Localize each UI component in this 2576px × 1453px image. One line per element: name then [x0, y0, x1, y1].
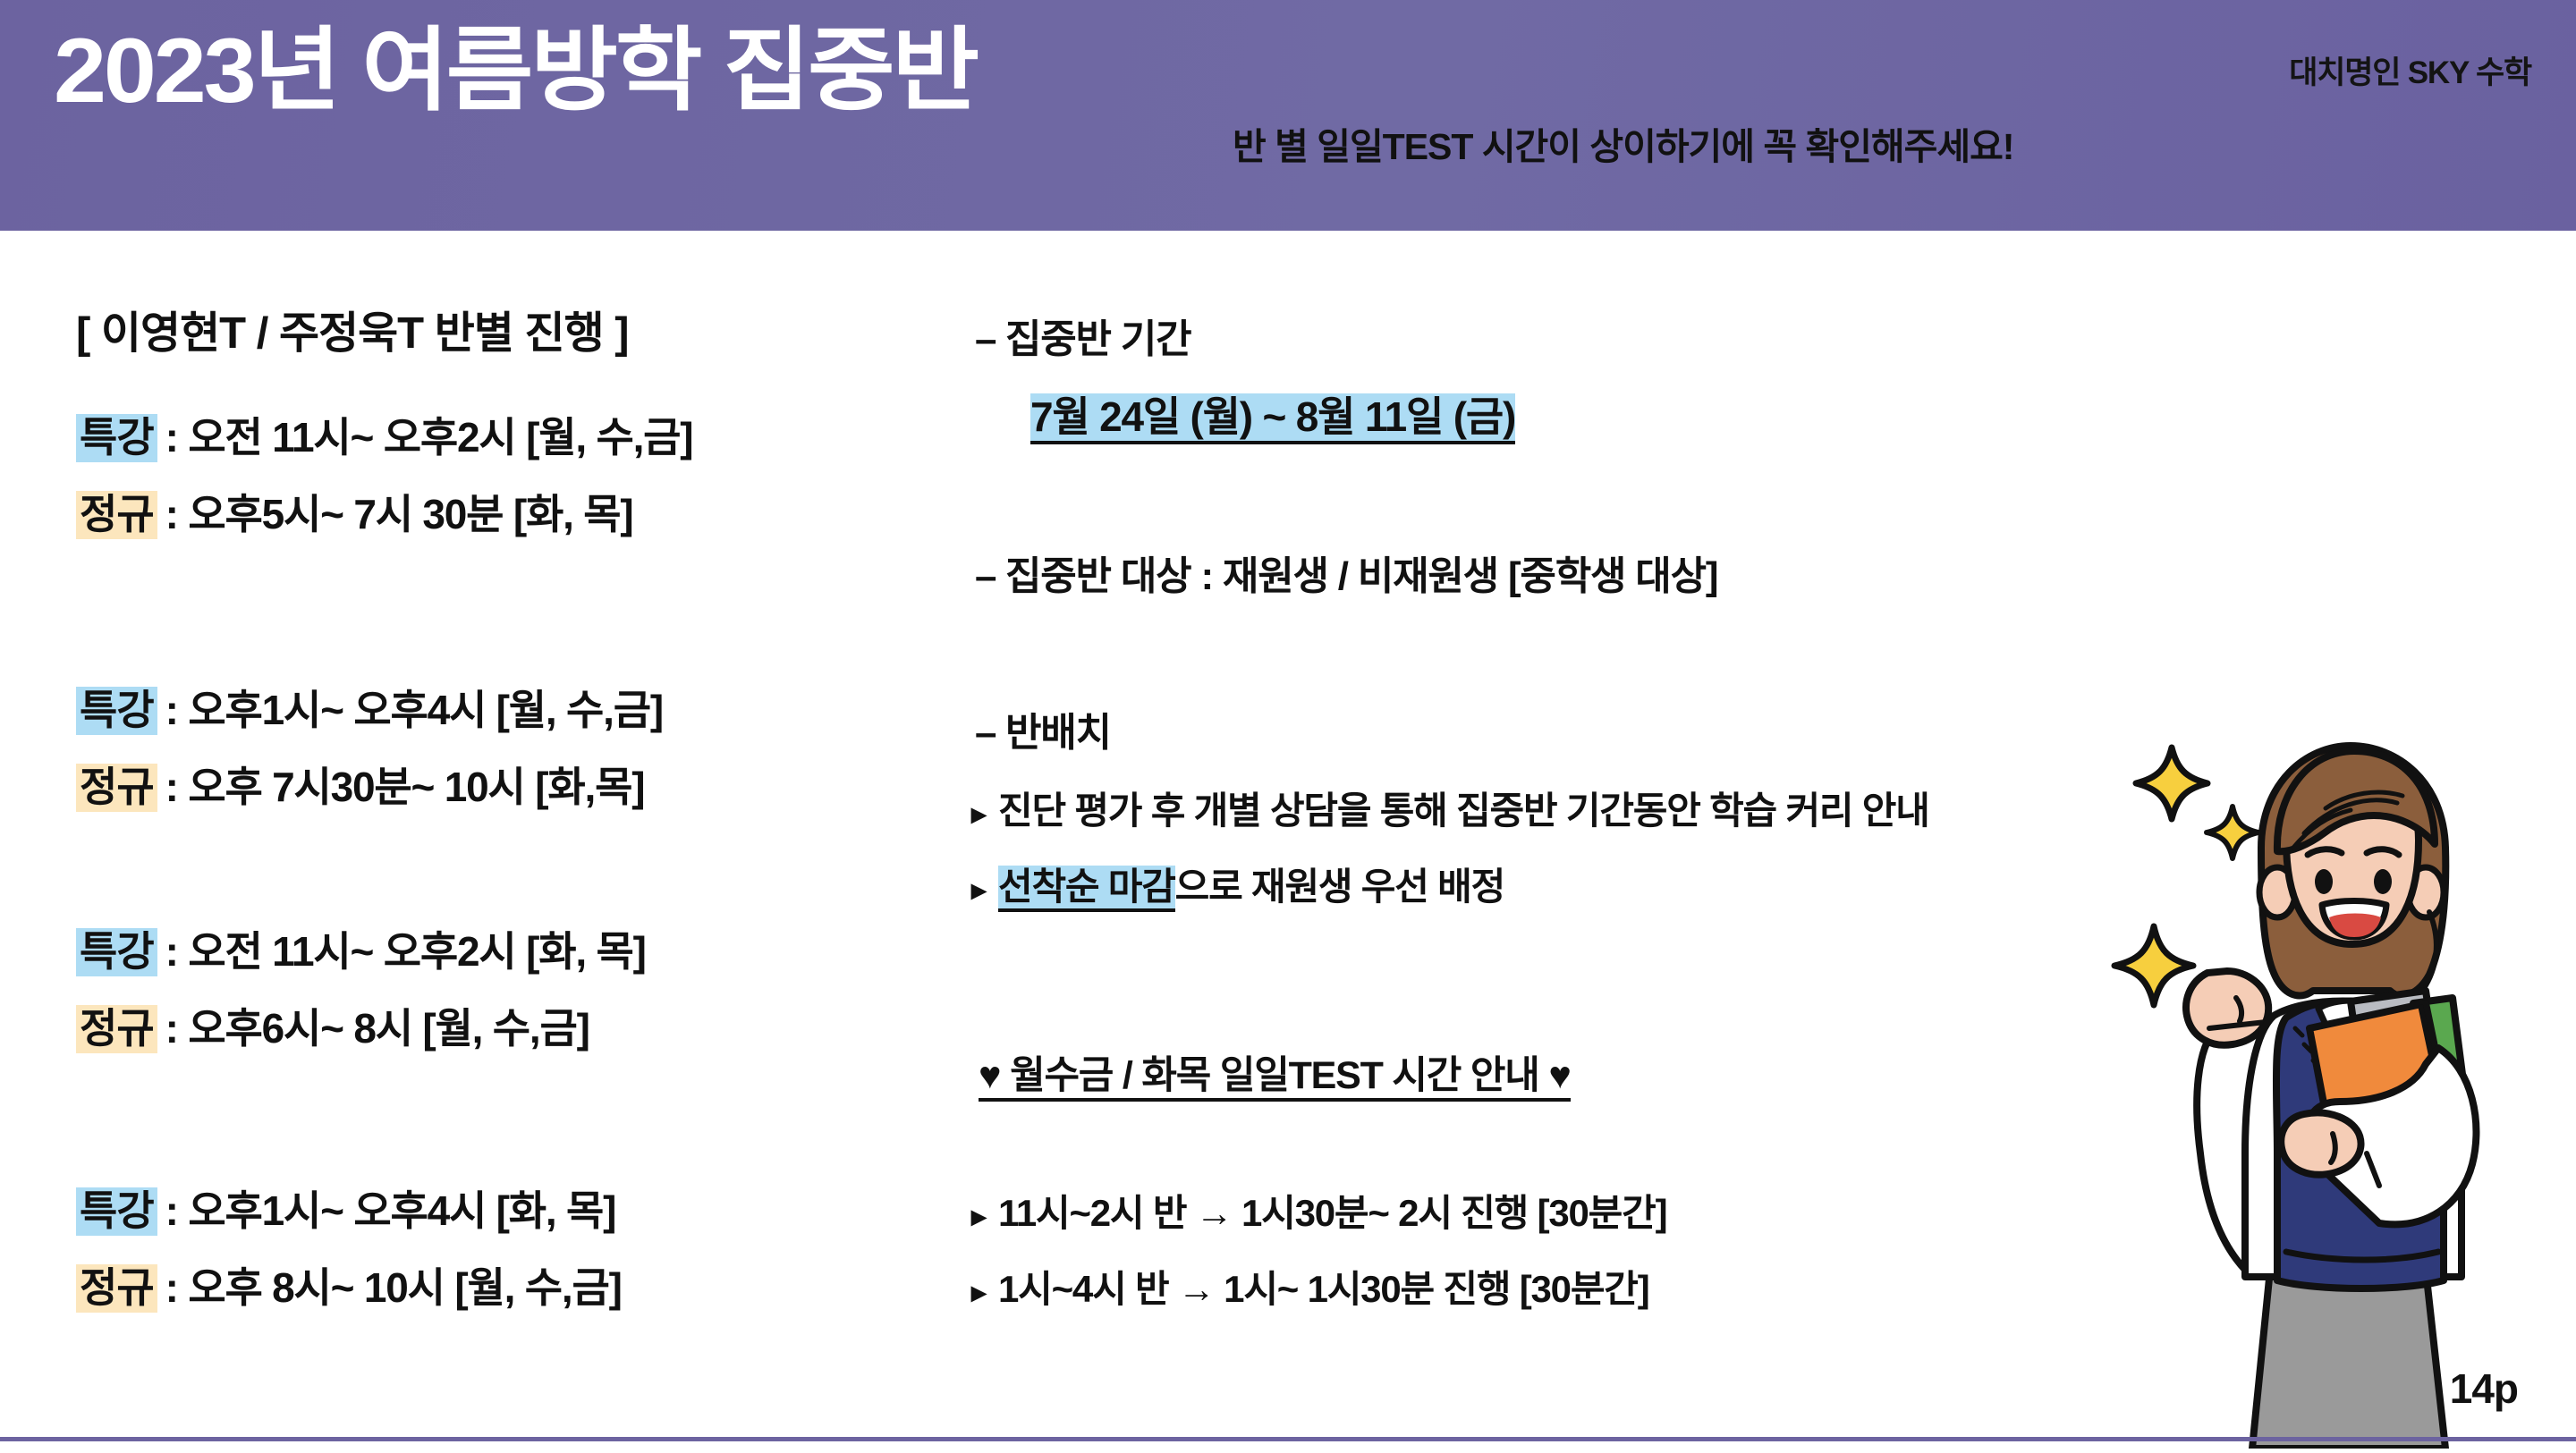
left-column: [ 이영현T / 주정욱T 반별 진행 ] 특강 : 오전 11시~ 오후2시 … [0, 231, 966, 1449]
target-row: –집중반 대상 : 재원생 / 비재원생 [중학생 대상] [975, 544, 1717, 601]
tag-teukgang: 특강 [76, 1187, 157, 1236]
class-row-teukgang: 특강 : 오전 11시~ 오후2시 [월, 수,금] [76, 405, 935, 464]
class-block-1: 특강 : 오전 11시~ 오후2시 [월, 수,금] 정규 : 오후5시~ 7시… [76, 405, 935, 559]
triangle-bullet-icon: ▸ [971, 873, 998, 907]
tag-jeonggyu: 정규 [76, 1005, 157, 1053]
class-row-jeonggyu: 정규 : 오후 7시30분~ 10시 [화,목] [76, 755, 935, 814]
tag-teukgang: 특강 [76, 414, 157, 462]
page-number: 14p [2450, 1364, 2518, 1413]
class-block-3: 특강 : 오전 11시~ 오후2시 [화, 목] 정규 : 오후6시~ 8시 [… [76, 919, 935, 1073]
placement-item-2: ▸선착순 마감으로 재원생 우선 배정 [971, 857, 1504, 911]
tag-jeonggyu: 정규 [76, 764, 157, 812]
placement-item-2-rest: 으로 재원생 우선 배정 [1175, 866, 1504, 908]
header-band: 2023년 여름방학 집중반 반 별 일일TEST 시간이 상이하기에 꼭 확인… [0, 0, 2576, 231]
period-value-row: 7월 24일 (월) ~ 8월 11일 (금) [1030, 384, 1515, 444]
tag-jeonggyu: 정규 [76, 491, 157, 539]
bottom-divider [0, 1437, 2576, 1441]
class-row-teukgang: 특강 : 오후1시~ 오후4시 [화, 목] [76, 1178, 935, 1238]
test-row-2: ▸1시~4시 반 → 1시~ 1시30분 진행 [30분간] [971, 1259, 1649, 1314]
class-row-teukgang: 특강 : 오후1시~ 오후4시 [월, 수,금] [76, 678, 935, 737]
class-time-text: : 오전 11시~ 오후2시 [월, 수,금] [165, 405, 693, 464]
class-time-text: : 오전 11시~ 오후2시 [화, 목] [165, 919, 646, 978]
dash-bullet-icon: – [975, 317, 1005, 362]
dash-bullet-icon: – [975, 711, 1005, 756]
placement-label-row: –반배치 [975, 700, 1111, 757]
period-label-row: –집중반 기간 [975, 307, 1191, 364]
teacher-heading: [ 이영현T / 주정욱T 반별 진행 ] [76, 298, 629, 361]
class-block-4: 특강 : 오후1시~ 오후4시 [화, 목] 정규 : 오후 8시~ 10시 [… [76, 1178, 935, 1332]
header-subtitle: 반 별 일일TEST 시간이 상이하기에 꼭 확인해주세요! [1233, 116, 2013, 170]
test-row-2-text: 1시~4시 반 → 1시~ 1시30분 진행 [30분간] [998, 1268, 1649, 1310]
sparkle-icon [2114, 926, 2193, 1005]
dash-bullet-icon: – [975, 554, 1005, 599]
placement-label: 반배치 [1005, 711, 1111, 755]
class-time-text: : 오후 8시~ 10시 [월, 수,금] [165, 1255, 622, 1314]
test-heading: ♥ 월수금 / 화목 일일TEST 시간 안내 ♥ [979, 1054, 1571, 1102]
target-text: 집중반 대상 : 재원생 / 비재원생 [중학생 대상] [1005, 554, 1717, 598]
period-value: 7월 24일 (월) ~ 8월 11일 (금) [1030, 393, 1515, 444]
class-row-teukgang: 특강 : 오전 11시~ 오후2시 [화, 목] [76, 919, 935, 978]
sparkle-icon [2136, 748, 2207, 819]
class-row-jeonggyu: 정규 : 오후5시~ 7시 30분 [화, 목] [76, 482, 935, 541]
triangle-bullet-icon: ▸ [971, 1199, 998, 1233]
class-row-jeonggyu: 정규 : 오후 8시~ 10시 [월, 수,금] [76, 1255, 935, 1314]
sparkle-icon [2207, 807, 2258, 858]
triangle-bullet-icon: ▸ [971, 797, 998, 831]
page-title: 2023년 여름방학 집중반 [54, 25, 977, 116]
class-time-text: : 오후1시~ 오후4시 [화, 목] [165, 1178, 616, 1238]
period-label: 집중반 기간 [1005, 317, 1191, 361]
brand-logo-text: 대치명인 SKY 수학 [2289, 47, 2531, 93]
tag-teukgang: 특강 [76, 687, 157, 735]
class-time-text: : 오후5시~ 7시 30분 [화, 목] [165, 482, 633, 541]
student-illustration [2111, 733, 2576, 1449]
test-row-1-text: 11시~2시 반 → 1시30분~ 2시 진행 [30분간] [998, 1192, 1666, 1234]
class-block-2: 특강 : 오후1시~ 오후4시 [월, 수,금] 정규 : 오후 7시30분~ … [76, 678, 935, 832]
class-time-text: : 오후 7시30분~ 10시 [화,목] [165, 755, 645, 814]
tag-teukgang: 특강 [76, 928, 157, 976]
test-heading-row: ♥ 월수금 / 화목 일일TEST 시간 안내 ♥ [979, 1044, 1571, 1100]
placement-item-1: ▸진단 평가 후 개별 상담을 통해 집중반 기간동안 학습 커리 안내 [971, 781, 1929, 835]
placement-item-1-text: 진단 평가 후 개별 상담을 통해 집중반 기간동안 학습 커리 안내 [998, 790, 1929, 832]
test-row-1: ▸11시~2시 반 → 1시30분~ 2시 진행 [30분간] [971, 1183, 1666, 1238]
class-time-text: : 오후1시~ 오후4시 [월, 수,금] [165, 678, 663, 737]
class-time-text: : 오후6시~ 8시 [월, 수,금] [165, 996, 589, 1055]
tag-jeonggyu: 정규 [76, 1264, 157, 1313]
class-row-jeonggyu: 정규 : 오후6시~ 8시 [월, 수,금] [76, 996, 935, 1055]
triangle-bullet-icon: ▸ [971, 1275, 998, 1309]
placement-item-2-highlight: 선착순 마감 [998, 866, 1175, 912]
